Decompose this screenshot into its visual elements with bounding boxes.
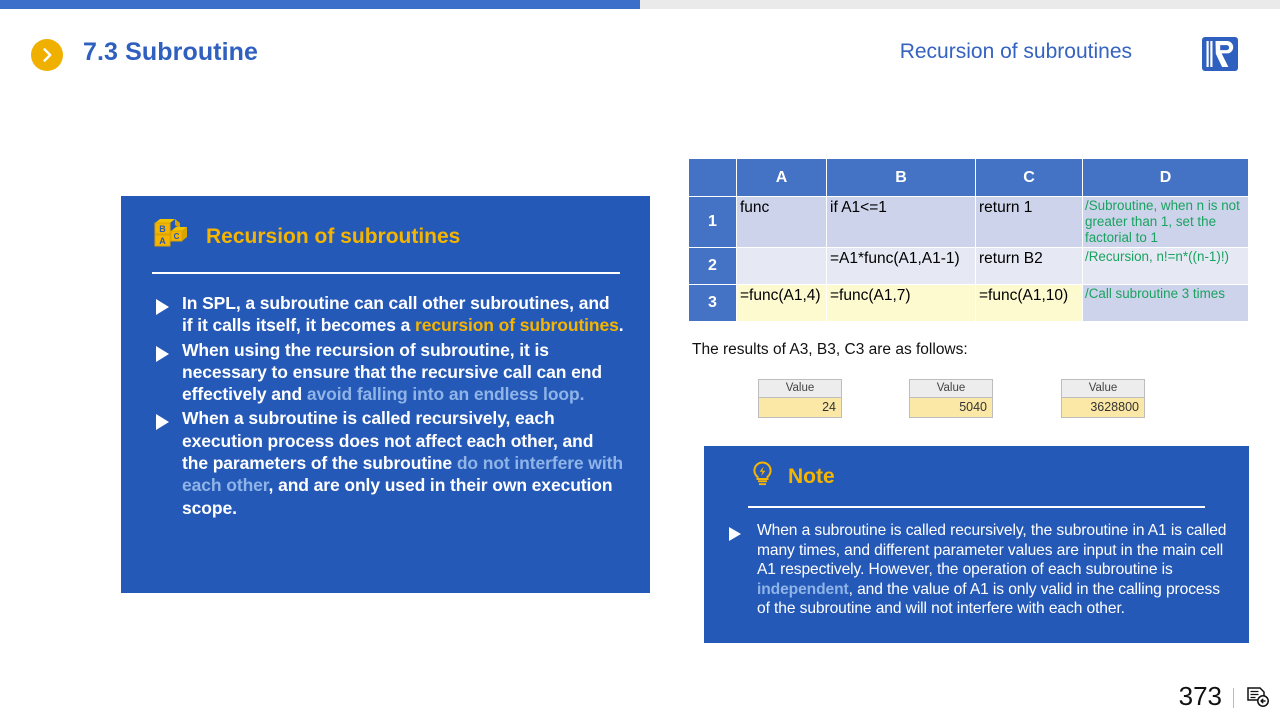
bullet-triangle-icon xyxy=(729,527,741,541)
row-header-3: 3 xyxy=(689,285,737,322)
cell-c1[interactable]: return 1 xyxy=(976,197,1083,248)
cell-d1-comment[interactable]: /Subroutine, when n is not greater than … xyxy=(1083,197,1249,248)
left-card-title: Recursion of subroutines xyxy=(206,225,460,249)
bullet-item: When using the recursion of subroutine, … xyxy=(149,339,624,406)
book-r-logo-icon xyxy=(1199,33,1241,75)
bullet-text: When a subroutine is called recursively,… xyxy=(757,521,1227,619)
column-header-a: A xyxy=(737,159,827,197)
table-row: 2 =A1*func(A1,A1-1) return B2 /Recursion… xyxy=(689,248,1249,285)
abc-blocks-icon: B A C xyxy=(151,218,189,255)
section-subtitle: Recursion of subroutines xyxy=(900,40,1132,64)
bullet-item: When a subroutine is called recursively,… xyxy=(726,521,1227,619)
note-card-header: Note xyxy=(704,446,1249,493)
footer-divider xyxy=(1233,688,1234,708)
corner-cell xyxy=(689,159,737,197)
value-box-header: Value xyxy=(1062,380,1144,398)
cell-a3[interactable]: =func(A1,4) xyxy=(737,285,827,322)
bullet-text-run: independent xyxy=(757,581,849,598)
value-box-value: 5040 xyxy=(910,398,992,417)
chevron-right-icon xyxy=(31,39,63,71)
bullet-triangle-icon xyxy=(156,414,169,430)
bullet-item: When a subroutine is called recursively,… xyxy=(149,407,624,518)
cell-d2-comment[interactable]: /Recursion, n!=n*((n-1)!) xyxy=(1083,248,1249,285)
page-title: 7.3 Subroutine xyxy=(83,38,258,67)
cell-a2[interactable] xyxy=(737,248,827,285)
cell-b3[interactable]: =func(A1,7) xyxy=(827,285,976,322)
value-box-b3: Value 5040 xyxy=(909,379,993,418)
left-card-bullet-list: In SPL, a subroutine can call other subr… xyxy=(121,274,650,519)
value-box-value: 24 xyxy=(759,398,841,417)
progress-bar xyxy=(0,0,1280,9)
lightbulb-icon xyxy=(750,460,775,493)
page-number: 373 xyxy=(1179,681,1222,712)
cell-a1[interactable]: func xyxy=(737,197,827,248)
value-box-header: Value xyxy=(910,380,992,398)
table-header-row: A B C D xyxy=(689,159,1249,197)
value-box-header: Value xyxy=(759,380,841,398)
table-row: 3 =func(A1,4) =func(A1,7) =func(A1,10) /… xyxy=(689,285,1249,322)
cell-c2[interactable]: return B2 xyxy=(976,248,1083,285)
bullet-text: When using the recursion of subroutine, … xyxy=(182,339,624,406)
left-card-header: B A C Recursion of subroutines xyxy=(121,196,650,255)
document-back-icon[interactable] xyxy=(1246,686,1270,708)
bullet-text-run: recursion of subroutines xyxy=(415,315,619,335)
row-header-2: 2 xyxy=(689,248,737,285)
note-card-title: Note xyxy=(788,465,835,489)
cell-b2[interactable]: =A1*func(A1,A1-1) xyxy=(827,248,976,285)
svg-text:B: B xyxy=(159,224,166,234)
progress-bar-fill xyxy=(0,0,640,9)
spl-code-table: A B C D 1 func if A1<=1 return 1 /Subrou… xyxy=(688,158,1249,322)
column-header-c: C xyxy=(976,159,1083,197)
bullet-text: When a subroutine is called recursively,… xyxy=(182,407,624,518)
bullet-text-run: When a subroutine is called recursively,… xyxy=(757,522,1226,578)
recursion-info-card: B A C Recursion of subroutines In SPL, a… xyxy=(121,196,650,593)
svg-text:A: A xyxy=(159,236,166,246)
bullet-text-run: avoid falling into an endless loop. xyxy=(307,384,585,404)
bullet-text: In SPL, a subroutine can call other subr… xyxy=(182,292,624,337)
cell-b1[interactable]: if A1<=1 xyxy=(827,197,976,248)
value-box-a3: Value 24 xyxy=(758,379,842,418)
results-label: The results of A3, B3, C3 are as follows… xyxy=(692,341,968,359)
cell-c3[interactable]: =func(A1,10) xyxy=(976,285,1083,322)
note-card-bullet-list: When a subroutine is called recursively,… xyxy=(704,508,1249,619)
value-box-value: 3628800 xyxy=(1062,398,1144,417)
note-card: Note When a subroutine is called recursi… xyxy=(704,446,1249,643)
column-header-d: D xyxy=(1083,159,1249,197)
column-header-b: B xyxy=(827,159,976,197)
table-row: 1 func if A1<=1 return 1 /Subroutine, wh… xyxy=(689,197,1249,248)
bullet-item: In SPL, a subroutine can call other subr… xyxy=(149,292,624,337)
bullet-triangle-icon xyxy=(156,299,169,315)
svg-text:C: C xyxy=(174,232,180,241)
value-box-c3: Value 3628800 xyxy=(1061,379,1145,418)
bullet-text-run: . xyxy=(619,315,624,335)
bullet-triangle-icon xyxy=(156,346,169,362)
slide-root: 7.3 Subroutine Recursion of subroutines … xyxy=(0,0,1280,720)
row-header-1: 1 xyxy=(689,197,737,248)
cell-d3-comment[interactable]: /Call subroutine 3 times xyxy=(1083,285,1249,322)
